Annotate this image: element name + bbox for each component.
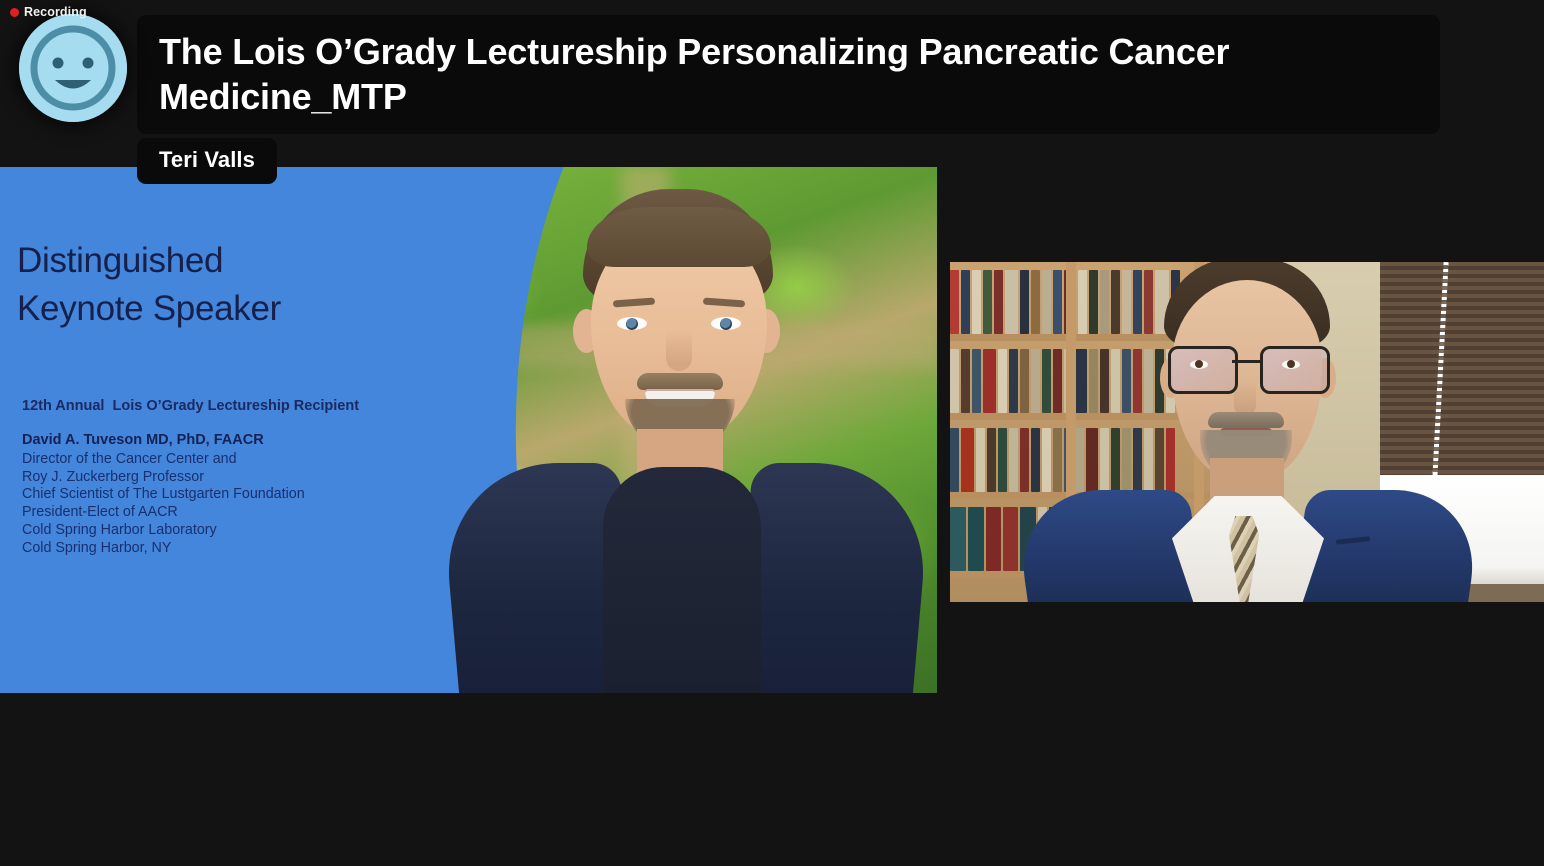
meeting-title: The Lois O’Grady Lectureship Personalizi… [159, 29, 1420, 120]
slide-affiliation-line: Cold Spring Harbor Laboratory [22, 522, 305, 540]
recording-label: Recording [24, 5, 87, 19]
slide-heading: Distinguished Keynote Speaker [17, 237, 281, 334]
slide-affiliation-line: Cold Spring Harbor, NY [22, 540, 305, 558]
slide-affiliations: Director of the Cancer Center and Roy J.… [22, 451, 305, 557]
slide-affiliation-line: Roy J. Zuckerberg Professor [22, 469, 305, 487]
participant-name-badge: Teri Valls [137, 138, 277, 184]
slide-recipient-line: 12th Annual Lois O’Grady Lectureship Rec… [22, 398, 359, 414]
photo-person-figure [455, 167, 925, 693]
slide-affiliation-line: Director of the Cancer Center and [22, 451, 305, 469]
slide-affiliation-line: President-Elect of AACR [22, 504, 305, 522]
slide-speaker-name: David A. Tuveson MD, PhD, FAACR [22, 432, 264, 448]
slide-affiliation-line: Chief Scientist of The Lustgarten Founda… [22, 486, 305, 504]
shared-screen-slide[interactable]: Distinguished Keynote Speaker 12th Annua… [0, 167, 937, 693]
meeting-title-bar: The Lois O’Grady Lectureship Personalizi… [137, 15, 1440, 134]
participant-video-tile[interactable] [950, 262, 1544, 602]
slide-speaker-photo [397, 167, 937, 693]
eyeglasses-icon [1166, 346, 1328, 390]
smiley-face-avatar-icon [19, 14, 127, 122]
recording-indicator: Recording [10, 5, 87, 19]
webcam-person-figure [1068, 262, 1428, 602]
zoom-meeting-window: Recording The Lois O’Grady Lectureship P… [0, 0, 1544, 866]
participant-name: Teri Valls [159, 147, 255, 172]
recording-dot-icon [10, 8, 19, 17]
